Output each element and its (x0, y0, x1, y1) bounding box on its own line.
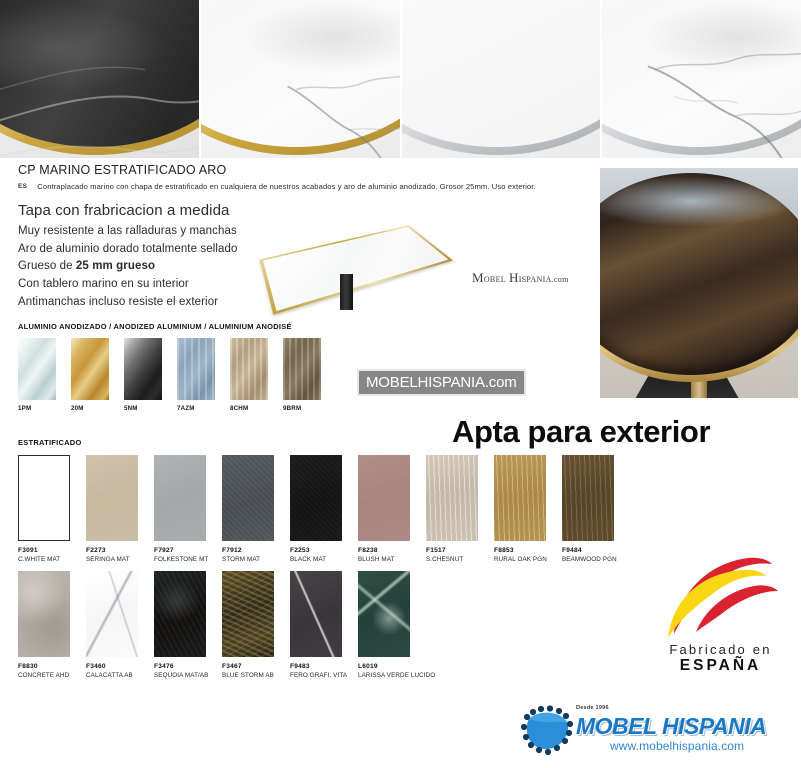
laminate-code: F3091 (18, 547, 76, 554)
spain-map-stars-icon (520, 705, 576, 757)
aluminium-swatch-7azm[interactable]: 7AZM (177, 338, 215, 412)
laminate-chip (154, 455, 206, 541)
laminate-name: C.WHITE MAT (18, 556, 76, 563)
laminate-swatch-f9483[interactable]: F9483 FERO GRAFI. VITA (290, 571, 348, 679)
laminate-swatch-f7927[interactable]: F7927 FOLKESTONE MT (154, 455, 212, 563)
language-tag: ES (18, 182, 27, 190)
product-description: Contraplacado marino con chapa de estrat… (37, 182, 535, 191)
aluminium-code: 7AZM (177, 405, 215, 412)
laminate-name: BEAMWOOD PGN (562, 556, 620, 563)
hero-image-white-marble-gold-rim (201, 0, 400, 158)
outdoor-table-photo (600, 168, 798, 398)
white-top (402, 0, 601, 147)
laminate-swatch-f3460[interactable]: F3460 CALACATTA AB (86, 571, 144, 679)
laminate-name: BLUSH MAT (358, 556, 416, 563)
laminate-name: S.CHESNUT (426, 556, 484, 563)
aluminium-chip (283, 338, 321, 400)
laminate-name: SEQUOIA MAT/AB (154, 672, 212, 679)
aluminium-chip (124, 338, 162, 400)
laminate-code: F2253 (290, 547, 348, 554)
aluminium-code: 20M (71, 405, 109, 412)
laminate-swatch-f1517[interactable]: F1517 S.CHESNUT (426, 455, 484, 563)
watermark-label: MOBELHISPANIA.com (357, 369, 526, 396)
brand-url[interactable]: www.mobelhispania.com (610, 739, 744, 753)
laminate-swatch-f3091[interactable]: F3091 C.WHITE MAT (18, 455, 76, 563)
hero-image-strip (0, 0, 801, 158)
laminate-swatch-f9484[interactable]: F9484 BEAMWOOD PGN (562, 455, 620, 563)
white-marble-top (201, 0, 400, 147)
hero-image-white-marble-silver-rim (602, 0, 801, 158)
laminate-name: BLUE STORM AB (222, 672, 280, 679)
laminate-chip (290, 455, 342, 541)
laminate-swatch-f3476[interactable]: F3476 SEQUOIA MAT/AB (154, 571, 212, 679)
thickness-label: Grueso de (18, 260, 73, 272)
laminate-chip (290, 571, 342, 657)
aluminium-code: 8CHM (230, 405, 268, 412)
laminate-row-2: F8830 CONCRETE AHD F3460 CALACATTA AB F3… (18, 571, 658, 679)
laminate-code: F9483 (290, 663, 348, 670)
laminate-chip (426, 455, 478, 541)
render-brand-caption: MOBEL HISPANIA.com (472, 270, 569, 286)
laminate-chip (86, 455, 138, 541)
laminate-code: L6019 (358, 663, 416, 670)
caption-ispania: ISPANIA (519, 275, 552, 284)
caption-com: .com (552, 275, 569, 284)
laminate-swatch-f8853[interactable]: F8853 RURAL OAK PGN (494, 455, 552, 563)
laminate-name: STORM MAT (222, 556, 280, 563)
laminate-row-1: F3091 C.WHITE MAT F2273 SERINGA MAT F792… (18, 455, 658, 563)
aluminium-code: 1PM (18, 405, 56, 412)
aluminium-heading: ALUMINIO ANODIZADO / ANODIZED ALUMINIUM … (18, 322, 348, 331)
laminate-name: CALACATTA AB (86, 672, 144, 679)
hero-image-black-marble-gold-rim (0, 0, 199, 158)
caption-h: H (509, 270, 519, 285)
aluminium-code: 9BRM (283, 405, 321, 412)
aluminium-finishes-section: ALUMINIO ANODIZADO / ANODIZED ALUMINIUM … (18, 322, 348, 412)
made-in-line-1: Fabricado en (648, 642, 793, 657)
laminate-code: F2273 (86, 547, 144, 554)
product-title: CP MARINO ESTRATIFICADO ARO (18, 163, 593, 177)
aluminium-swatch-20m[interactable]: 20M (71, 338, 109, 412)
aluminium-chip (71, 338, 109, 400)
brand-name: MOBEL HISPANIA (576, 713, 766, 740)
table-column (340, 274, 353, 310)
laminate-name: SERINGA MAT (86, 556, 144, 563)
spanish-flag-icon (656, 548, 786, 640)
square-table-render (258, 212, 458, 312)
table-slab-marble-gold-edge (260, 225, 453, 315)
laminate-name: LARISSA VERDE LUCIDO (358, 672, 416, 679)
laminate-code: F8238 (358, 547, 416, 554)
laminate-code: F8853 (494, 547, 552, 554)
laminate-name: CONCRETE AHD (18, 672, 76, 679)
made-in-line-2: ESPAÑA (648, 657, 793, 675)
laminate-swatch-f2253[interactable]: F2253 BLACK MAT (290, 455, 348, 563)
laminate-swatch-f8238[interactable]: F8238 BLUSH MAT (358, 455, 416, 563)
aluminium-code: 5NM (124, 405, 162, 412)
aluminium-chip (18, 338, 56, 400)
laminate-name: FOLKESTONE MT (154, 556, 212, 563)
laminate-chip (494, 455, 546, 541)
laminate-code: F3476 (154, 663, 212, 670)
brand-since-label: Desde 1996 (576, 705, 609, 711)
laminate-chip (86, 571, 138, 657)
laminate-swatch-f2273[interactable]: F2273 SERINGA MAT (86, 455, 144, 563)
laminate-heading: ESTRATIFICADO (18, 438, 658, 447)
photo-dark-marble-top (600, 173, 798, 375)
laminate-chip (222, 455, 274, 541)
brand-logo[interactable]: Desde 1996 MOBEL HISPANIA www.mobelhispa… (520, 703, 795, 761)
product-description-row: ES Contraplacado marino con chapa de est… (18, 182, 593, 191)
aluminium-swatch-8chm[interactable]: 8CHM (230, 338, 268, 412)
laminate-name: FERO GRAFI. VITA (290, 672, 348, 679)
made-in-spain-badge: Fabricado en ESPAÑA (648, 548, 793, 675)
laminate-swatch-f8830[interactable]: F8830 CONCRETE AHD (18, 571, 76, 679)
aluminium-swatch-1pm[interactable]: 1PM (18, 338, 56, 412)
laminate-code: F7912 (222, 547, 280, 554)
white-marble-top-2 (602, 0, 801, 147)
laminate-code: F3460 (86, 663, 144, 670)
aluminium-chip (177, 338, 215, 400)
aluminium-chip (230, 338, 268, 400)
thickness-value: 25 mm grueso (76, 260, 155, 272)
laminate-code: F3467 (222, 663, 280, 670)
laminate-chip (358, 455, 410, 541)
laminate-finishes-section: ESTRATIFICADO F3091 C.WHITE MAT F2273 SE… (18, 438, 658, 679)
caption-obel: OBEL (484, 275, 506, 284)
laminate-code: F7927 (154, 547, 212, 554)
laminate-code: F1517 (426, 547, 484, 554)
hero-image-white-silver-rim (402, 0, 601, 158)
black-marble-top (0, 0, 199, 147)
laminate-swatch-l6019[interactable]: L6019 LARISSA VERDE LUCIDO (358, 571, 416, 679)
laminate-code: F8830 (18, 663, 76, 670)
laminate-code: F9484 (562, 547, 620, 554)
laminate-chip (562, 455, 614, 541)
aluminium-swatch-5nm[interactable]: 5NM (124, 338, 162, 412)
laminate-chip (222, 571, 274, 657)
aluminium-swatch-row: 1PM 20M 5NM 7AZM 8CHM 9BRM (18, 338, 348, 412)
laminate-name: RURAL OAK PGN (494, 556, 552, 563)
laminate-swatch-f3467[interactable]: F3467 BLUE STORM AB (222, 571, 280, 679)
laminate-chip (358, 571, 410, 657)
laminate-swatch-f7912[interactable]: F7912 STORM MAT (222, 455, 280, 563)
laminate-name: BLACK MAT (290, 556, 348, 563)
laminate-chip (18, 571, 70, 657)
caption-m: M (472, 270, 484, 285)
aluminium-swatch-9brm[interactable]: 9BRM (283, 338, 321, 412)
laminate-chip (154, 571, 206, 657)
laminate-chip (18, 455, 70, 541)
